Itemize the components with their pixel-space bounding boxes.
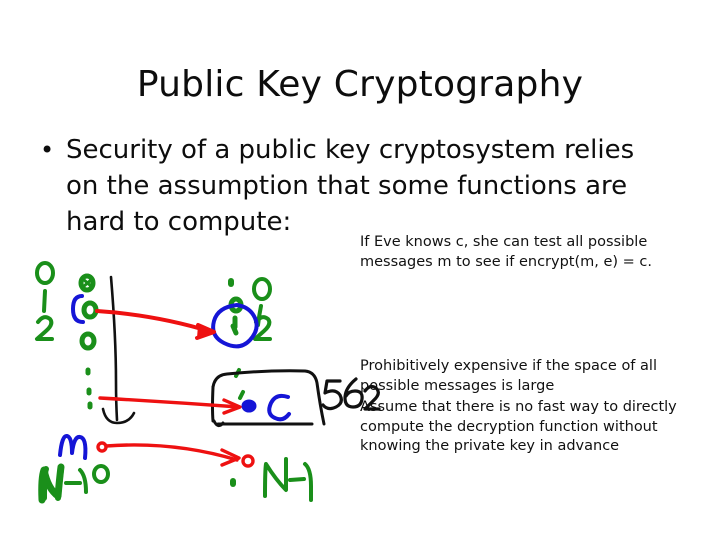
ink-green-right-column: [254, 279, 270, 339]
ink-blue-cipher-dot: [243, 401, 255, 411]
list-item: • Security of a public key cryptosystem …: [36, 132, 676, 240]
ink-blue-cipher-label: [269, 396, 289, 419]
note-paragraph-1: If Eve knows c, she can test all possibl…: [360, 233, 680, 272]
note-paragraph-2: Prohibitively expensive if the space of …: [360, 357, 680, 396]
ink-green-bottom-left-label: [42, 466, 108, 500]
ink-green-bottom-right-label: [265, 459, 311, 500]
ink-black-curve: [103, 277, 134, 423]
slide-canvas: Public Key Cryptography • Security of a …: [0, 0, 720, 540]
ink-green-left-column: [37, 263, 53, 339]
bullet-item-label: Security of a public key cryptosystem re…: [66, 132, 674, 240]
note-paragraph-3: Assume that there is no fast way to dire…: [360, 398, 680, 457]
ink-red-arrow-from-m: [98, 443, 253, 466]
ink-blue-message-label: [60, 436, 85, 458]
ink-green-dot-in-box: [240, 392, 243, 398]
ink-blue-circle: [213, 305, 257, 346]
ink-green-right-dots: [231, 281, 241, 376]
ink-red-arrow-to-box: [100, 398, 240, 413]
ink-blue-bracket: [73, 296, 83, 322]
ink-green-left-dots: [81, 276, 96, 407]
bullet-marker-icon: •: [36, 132, 66, 168]
page-title: Public Key Cryptography: [0, 64, 720, 105]
bullet-list: • Security of a public key cryptosystem …: [36, 132, 676, 240]
ink-black-box: [213, 371, 325, 426]
ink-red-arrow-encrypt: [97, 311, 214, 338]
